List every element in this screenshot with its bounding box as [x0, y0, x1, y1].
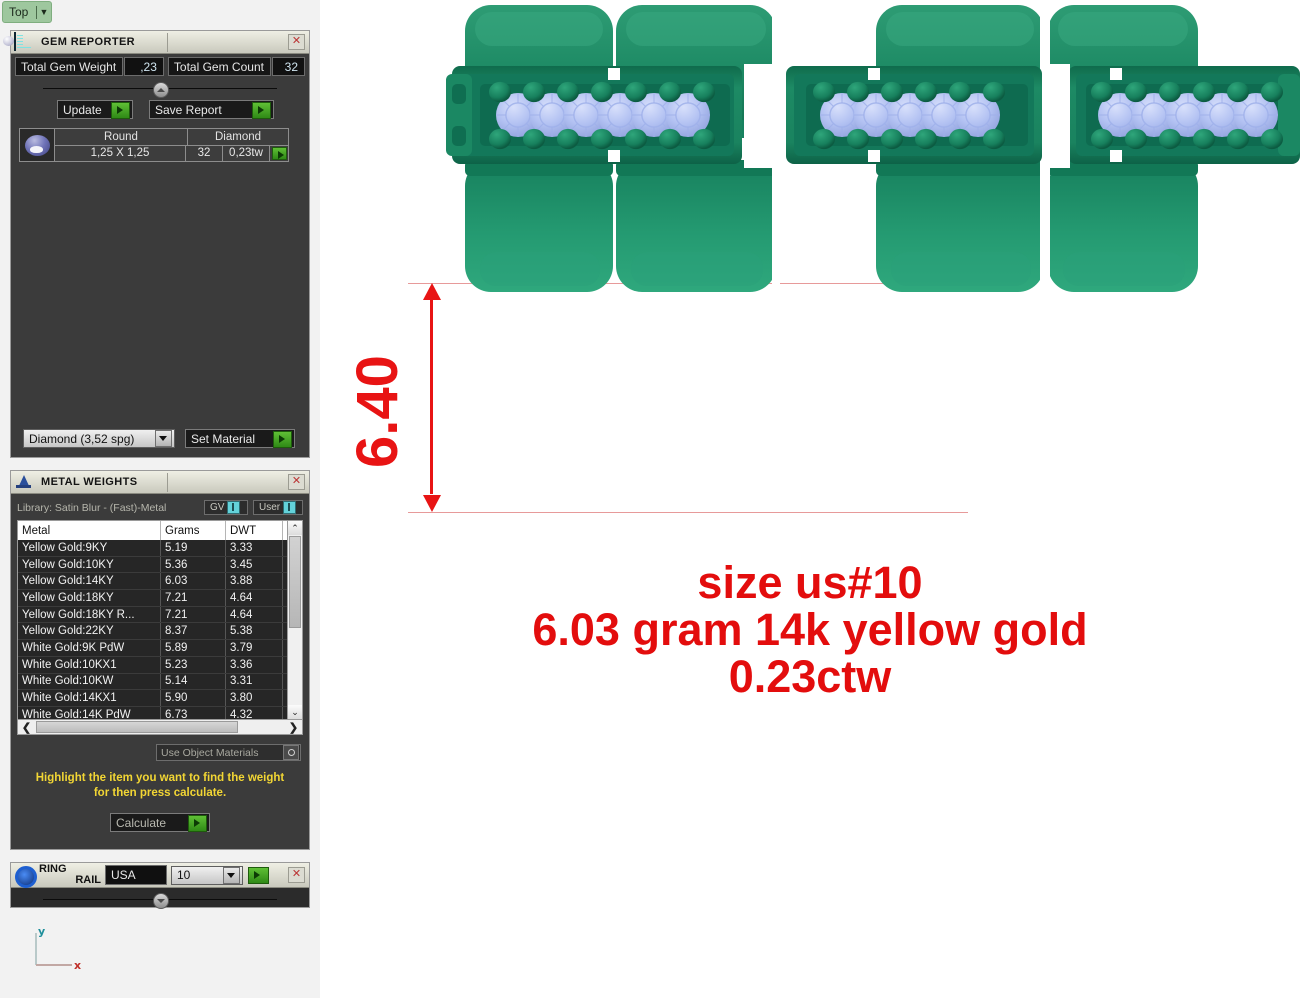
table-row[interactable]: Yellow Gold:18KY7.214.6415.41: [18, 590, 303, 607]
run-arrow-icon: [273, 431, 292, 448]
calculate-hint: Highlight the item you want to find the …: [11, 771, 309, 801]
view-selector[interactable]: Top ▼: [2, 1, 52, 23]
slider-knob[interactable]: [153, 893, 169, 909]
prong: [1261, 129, 1283, 149]
prong: [489, 129, 511, 149]
gem-reporter-actions: Update Save Report: [57, 100, 305, 119]
gem-totals-row: Total Gem Weight ,23 Total Gem Count 32: [15, 57, 305, 76]
column-header-metal: Metal: [18, 521, 161, 540]
prong: [881, 82, 903, 102]
gem-column-header-shape: Round: [55, 129, 187, 145]
dwt-cell: 3.33: [226, 540, 283, 556]
cad-tool-strip: Top ▼ GEM REPORTER ✕ Total Gem Weight ,2…: [0, 0, 320, 998]
dwt-cell: 5.38: [226, 623, 283, 640]
gem-table-header-row: Round Diamond: [55, 129, 288, 146]
gv-toggle-label: GV: [207, 502, 227, 513]
ring-rail-icon: [13, 865, 35, 885]
grams-cell: 5.89: [161, 640, 226, 657]
save-report-button-label: Save Report: [150, 103, 250, 117]
slider-knob[interactable]: [153, 82, 169, 98]
vertical-scrollbar[interactable]: ⌃ ⌄: [287, 521, 302, 719]
scrollbar-thumb-h[interactable]: [36, 721, 238, 733]
prong: [523, 129, 545, 149]
scroll-up-icon[interactable]: ⌃: [288, 521, 302, 535]
run-arrow-icon: [252, 102, 271, 119]
scroll-left-icon[interactable]: ❮: [18, 721, 35, 734]
dwt-cell: 3.36: [226, 656, 283, 673]
prong: [591, 82, 613, 102]
model-viewport[interactable]: 6.40: [320, 0, 1300, 998]
use-object-materials-label: Use Object Materials: [157, 747, 283, 759]
metal-cell: White Gold:14K PdW: [18, 706, 161, 720]
metal-cell: Yellow Gold:18KY: [18, 590, 161, 607]
radio-icon: [283, 745, 299, 760]
prong: [915, 129, 937, 149]
grams-cell: 7.21: [161, 606, 226, 623]
hint-line-2: for then press calculate.: [11, 786, 309, 801]
gem-reporter-panel: GEM REPORTER ✕ Total Gem Weight ,23 Tota…: [10, 30, 310, 458]
dwt-cell: 3.80: [226, 690, 283, 707]
caption-line-1: size us#10: [320, 560, 1300, 607]
gv-toggle[interactable]: GV: [204, 500, 248, 515]
grams-cell: 5.36: [161, 556, 226, 573]
library-label: Library: Satin Blur - (Fast)-Metal: [17, 502, 204, 514]
calculate-button[interactable]: Calculate: [110, 813, 210, 832]
metal-cell: Yellow Gold:22KY: [18, 623, 161, 640]
titlebar-spacer-1: [135, 33, 168, 52]
metal-weights-table[interactable]: Metal Grams DWT SPG Yellow Gold:9KY5.193…: [17, 520, 303, 720]
grams-cell: 5.19: [161, 540, 226, 556]
metal-cell: White Gold:10KW: [18, 673, 161, 690]
prong: [1227, 82, 1249, 102]
toggle-indicator-icon: [283, 501, 296, 514]
svg-text:y: y: [38, 925, 45, 938]
metal-weights-grid: Metal Grams DWT SPG Yellow Gold:9KY5.193…: [18, 521, 303, 720]
total-gem-weight-label: Total Gem Weight: [15, 57, 123, 76]
material-select[interactable]: Diamond (3,52 spg): [23, 429, 175, 448]
close-icon[interactable]: ✕: [288, 34, 305, 50]
prong: [1159, 82, 1181, 102]
gem-reporter-title: GEM REPORTER: [34, 36, 135, 48]
prong: [1261, 82, 1283, 102]
prong: [915, 82, 937, 102]
set-material-button[interactable]: Set Material: [185, 429, 295, 448]
metal-cell: White Gold:10KX1: [18, 656, 161, 673]
metal-cell: Yellow Gold:14KY: [18, 573, 161, 590]
table-row[interactable]: Yellow Gold:10KY5.363.4511.45: [18, 556, 303, 573]
prong: [1125, 129, 1147, 149]
table-row[interactable]: Yellow Gold:18KY R...7.214.6415.41: [18, 606, 303, 623]
axis-gizmo: y x: [30, 925, 90, 980]
ring-rail-title: RING RAIL: [35, 864, 101, 886]
titlebar-spacer-2: [168, 473, 288, 492]
library-row: Library: Satin Blur - (Fast)-Metal GV Us…: [17, 500, 303, 515]
view-selector-label: Top: [3, 5, 36, 19]
prong: [693, 129, 715, 149]
gem-column-header-type: Diamond: [187, 129, 288, 145]
ring-size-select[interactable]: 10: [171, 866, 243, 885]
prong: [1159, 129, 1181, 149]
metal-table-header-row: Metal Grams DWT SPG: [18, 521, 303, 540]
material-select-value: Diamond (3,52 spg): [24, 432, 155, 446]
ring-rail-title-line2: RAIL: [39, 875, 101, 886]
grams-cell: 7.21: [161, 590, 226, 607]
caption-line-2: 6.03 gram 14k yellow gold: [320, 607, 1300, 654]
prong: [813, 129, 835, 149]
svg-text:x: x: [74, 959, 81, 972]
prong: [847, 129, 869, 149]
metal-weights-panel: METAL WEIGHTS ✕ Library: Satin Blur - (F…: [10, 470, 310, 850]
prong: [813, 82, 835, 102]
prong: [1091, 129, 1113, 149]
prong: [693, 82, 715, 102]
hint-line-1: Highlight the item you want to find the …: [11, 771, 309, 786]
total-gem-count-value: 32: [272, 57, 305, 76]
prong: [983, 129, 1005, 149]
metal-cell: Yellow Gold:10KY: [18, 556, 161, 573]
gem-size-value: 1,25 X 1,25: [55, 146, 185, 161]
prong: [1193, 82, 1215, 102]
prong: [1193, 129, 1215, 149]
ring-region-field[interactable]: USA: [105, 865, 167, 885]
grams-cell: 6.03: [161, 573, 226, 590]
prong: [659, 129, 681, 149]
titlebar-spacer-1: [137, 473, 168, 492]
chevron-down-icon: [223, 867, 240, 884]
prong: [523, 82, 545, 102]
gem-table-columns: Round Diamond 1,25 X 1,25 32 0,23tw: [55, 129, 288, 161]
dwt-cell: 3.88: [226, 573, 283, 590]
prong: [591, 129, 613, 149]
table-row[interactable]: Yellow Gold:9KY5.193.3311.08: [18, 540, 303, 556]
prong: [557, 82, 579, 102]
grams-cell: 5.14: [161, 673, 226, 690]
prong: [625, 129, 647, 149]
metal-cell: White Gold:9K PdW: [18, 640, 161, 657]
ring-rail-titlebar: RING RAIL USA 10 ✕: [11, 863, 309, 888]
gem-material-row: Diamond (3,52 spg) Set Material: [23, 429, 299, 448]
channel-set-diamonds: [489, 82, 1283, 149]
gem-count-value: 32: [185, 146, 222, 161]
ring-rail-panel: RING RAIL USA 10 ✕: [10, 862, 310, 908]
ring-3d-render[interactable]: [320, 0, 1300, 998]
metal-weights-titlebar: METAL WEIGHTS ✕: [11, 471, 309, 494]
run-arrow-icon: [111, 102, 130, 119]
user-toggle[interactable]: User: [253, 500, 303, 515]
prong: [949, 129, 971, 149]
prong: [881, 129, 903, 149]
grams-cell: 5.90: [161, 690, 226, 707]
metal-cell: Yellow Gold:9KY: [18, 540, 161, 556]
ring-rail-slider[interactable]: [15, 891, 305, 907]
grams-cell: 5.23: [161, 656, 226, 673]
metal-cell: White Gold:14KX1: [18, 690, 161, 707]
gem-reporter-slider[interactable]: [15, 80, 305, 96]
apply-ring-size-button[interactable]: [248, 867, 269, 884]
table-row[interactable]: 1,25 X 1,25 32 0,23tw: [55, 146, 288, 161]
caption-line-3: 0.23ctw: [320, 654, 1300, 701]
column-header-dwt: DWT: [226, 521, 283, 540]
metal-cell: Yellow Gold:18KY R...: [18, 606, 161, 623]
scroll-right-icon[interactable]: ❯: [285, 721, 302, 734]
update-button-label: Update: [58, 103, 109, 117]
run-arrow-icon: [272, 147, 287, 160]
metal-weights-icon: [12, 473, 34, 492]
prong: [1091, 82, 1113, 102]
scrollbar-thumb[interactable]: [289, 536, 301, 628]
prong: [1125, 82, 1147, 102]
prong: [659, 82, 681, 102]
prong: [489, 82, 511, 102]
column-header-grams: Grams: [161, 521, 226, 540]
set-material-button-label: Set Material: [186, 432, 271, 446]
grams-cell: 8.37: [161, 623, 226, 640]
run-arrow-icon: [188, 815, 207, 832]
table-row[interactable]: White Gold:14KX15.903.8012.61: [18, 690, 303, 707]
close-icon[interactable]: ✕: [288, 474, 305, 490]
titlebar-spacer-2: [168, 33, 288, 52]
scroll-down-icon[interactable]: ⌄: [288, 705, 302, 719]
total-gem-count-label: Total Gem Count: [168, 57, 271, 76]
dwt-cell: 3.79: [226, 640, 283, 657]
use-object-materials-toggle[interactable]: Use Object Materials: [156, 744, 301, 761]
gem-preview-thumbnail: [20, 129, 55, 161]
table-row[interactable]: Yellow Gold:14KY6.033.8812.88: [18, 573, 303, 590]
calculate-button-label: Calculate: [111, 816, 186, 830]
user-toggle-label: User: [256, 502, 283, 513]
total-gem-weight-value: ,23: [124, 57, 164, 76]
metal-weights-title: METAL WEIGHTS: [34, 476, 137, 488]
close-icon[interactable]: ✕: [288, 867, 305, 883]
chevron-down-icon: ▼: [37, 7, 51, 17]
chevron-down-icon: [155, 430, 172, 447]
dwt-cell: 3.45: [226, 556, 283, 573]
save-report-button[interactable]: Save Report: [149, 100, 274, 119]
ring-lower-shoulders: [465, 160, 1198, 292]
prong: [1227, 129, 1249, 149]
toggle-indicator-icon: [227, 501, 240, 514]
table-row[interactable]: Yellow Gold:22KY8.375.3817.89: [18, 623, 303, 640]
gem-table[interactable]: Round Diamond 1,25 X 1,25 32 0,23tw: [19, 128, 289, 162]
prong: [847, 82, 869, 102]
annotation-caption: size us#10 6.03 gram 14k yellow gold 0.2…: [320, 560, 1300, 700]
dwt-cell: 4.32: [226, 706, 283, 720]
prong: [625, 82, 647, 102]
gem-report-icon: [12, 33, 34, 52]
ring-size-value: 10: [172, 868, 223, 882]
gem-weight-value: 0,23tw: [222, 146, 269, 161]
horizontal-scrollbar[interactable]: ❮ ❯: [17, 720, 303, 735]
prong: [557, 129, 579, 149]
update-button[interactable]: Update: [57, 100, 133, 119]
table-row[interactable]: White Gold:10KX15.233.3611.18: [18, 656, 303, 673]
prong: [983, 82, 1005, 102]
table-row[interactable]: White Gold:9K PdW5.893.7912.59: [18, 640, 303, 657]
prong: [949, 82, 971, 102]
grams-cell: 6.73: [161, 706, 226, 720]
table-row[interactable]: White Gold:10KW5.143.3110.99: [18, 673, 303, 690]
dwt-cell: 4.64: [226, 606, 283, 623]
dwt-cell: 4.64: [226, 590, 283, 607]
dwt-cell: 3.31: [226, 673, 283, 690]
gem-row-action[interactable]: [269, 146, 288, 161]
table-row[interactable]: White Gold:14K PdW6.734.3214.37: [18, 706, 303, 720]
metal-table-body: Yellow Gold:9KY5.193.3311.08Yellow Gold:…: [18, 540, 303, 720]
gem-reporter-titlebar: GEM REPORTER ✕: [11, 31, 309, 54]
